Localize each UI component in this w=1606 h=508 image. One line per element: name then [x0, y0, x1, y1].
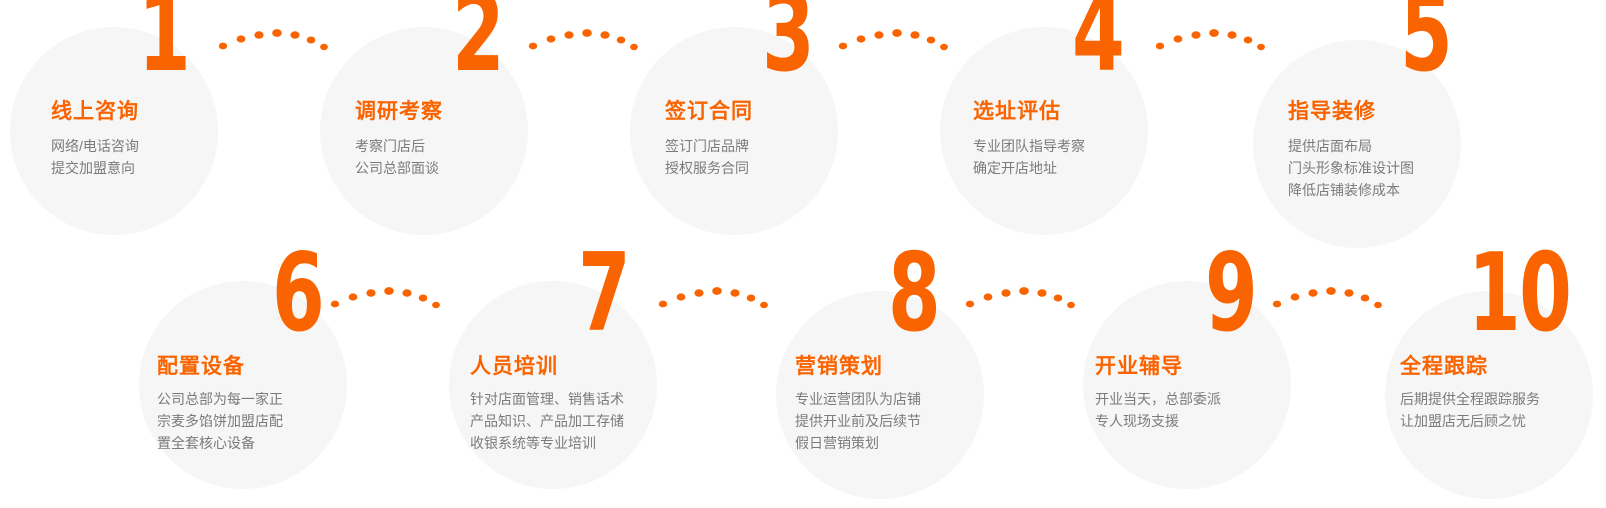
- desc-line: 产品知识、产品加工存储: [470, 410, 624, 432]
- connector-dot: [547, 35, 556, 42]
- step-title: 指导装修: [1288, 95, 1376, 125]
- desc-line: 公司总部为每一家正: [157, 388, 283, 410]
- connector-dot: [349, 293, 358, 300]
- connector-dot: [984, 293, 993, 300]
- connector-dot: [874, 31, 883, 39]
- step-title: 全程跟踪: [1400, 350, 1488, 380]
- connector-dot: [694, 289, 703, 297]
- connector-dot: [331, 301, 339, 308]
- connector-dot: [760, 302, 768, 308]
- step-description: 专业运营团队为店铺 提供开业前及后续节 假日营销策划: [795, 388, 921, 454]
- desc-line: 网络/电话咨询: [51, 135, 139, 157]
- step-description: 考察门店后 公司总部面谈: [355, 135, 439, 179]
- step-number: 10: [1468, 246, 1570, 341]
- step-description: 后期提供全程跟踪服务 让加盟店无后顾之忧: [1400, 388, 1540, 432]
- connector-arc-1-2: [218, 20, 328, 56]
- connector-arc-8-9: [965, 278, 1075, 314]
- connector-dot: [966, 301, 974, 308]
- step-title: 调研考察: [355, 95, 443, 125]
- step-number: 6: [272, 246, 323, 341]
- connector-dot: [630, 44, 638, 50]
- step-number: 5: [1400, 0, 1451, 81]
- connector-dot: [1054, 295, 1063, 302]
- connector-dot: [677, 293, 686, 300]
- connector-dot: [1326, 287, 1336, 295]
- step-description: 网络/电话咨询 提交加盟意向: [51, 135, 139, 179]
- connector-dot: [419, 295, 428, 302]
- connector-arc-7-8: [658, 278, 768, 314]
- connector-dot: [290, 31, 299, 39]
- desc-line: 提交加盟意向: [51, 157, 139, 179]
- desc-line: 专人现场支援: [1095, 410, 1221, 432]
- desc-line: 专业团队指导考察: [973, 135, 1085, 157]
- connector-arc-6-7: [330, 278, 440, 314]
- connector-dot: [366, 289, 375, 297]
- desc-line: 假日营销策划: [795, 432, 921, 454]
- connector-dot: [582, 29, 592, 37]
- connector-dot: [1361, 295, 1370, 302]
- step-title: 配置设备: [157, 350, 245, 380]
- desc-line: 签订门店品牌: [665, 135, 749, 157]
- connector-dot: [617, 37, 626, 44]
- connector-dot: [892, 29, 902, 37]
- connector-dot: [910, 31, 919, 39]
- desc-line: 置全套核心设备: [157, 432, 283, 454]
- connector-arc-3-4: [838, 20, 948, 56]
- connector-dot: [659, 301, 667, 308]
- connector-dot: [857, 35, 866, 42]
- connector-dot: [1257, 44, 1265, 50]
- connector-dot: [307, 37, 316, 44]
- step-number: 3: [762, 0, 813, 81]
- step-description: 专业团队指导考察 确定开店地址: [973, 135, 1085, 179]
- connector-dot: [747, 295, 756, 302]
- connector-dot: [1344, 289, 1353, 297]
- connector-dot: [254, 31, 263, 39]
- connector-dot: [272, 29, 282, 37]
- step-number: 4: [1072, 0, 1123, 81]
- connector-arc-4-5: [1155, 20, 1265, 56]
- connector-arc-2-3: [528, 20, 638, 56]
- step-title: 开业辅导: [1095, 350, 1183, 380]
- connector-dot: [1273, 301, 1281, 308]
- desc-line: 开业当天，总部委派: [1095, 388, 1221, 410]
- desc-line: 提供店面布局: [1288, 135, 1414, 157]
- connector-dot: [564, 31, 573, 39]
- connector-dot: [320, 44, 328, 50]
- desc-line: 门头形象标准设计图: [1288, 157, 1414, 179]
- step-description: 公司总部为每一家正 宗麦多馅饼加盟店配 置全套核心设备: [157, 388, 283, 454]
- connector-dot: [1308, 289, 1317, 297]
- step-number: 8: [888, 246, 939, 341]
- franchise-process-flow: 1 线上咨询 网络/电话咨询 提交加盟意向 2 调研考察 考察门店后 公司总部面…: [0, 0, 1606, 508]
- desc-line: 收银系统等专业培训: [470, 432, 624, 454]
- step-title: 人员培训: [470, 350, 558, 380]
- step-title: 营销策划: [795, 350, 883, 380]
- connector-dot: [1227, 31, 1236, 39]
- step-number: 7: [578, 246, 629, 341]
- connector-dot: [384, 287, 394, 295]
- desc-line: 提供开业前及后续节: [795, 410, 921, 432]
- desc-line: 考察门店后: [355, 135, 439, 157]
- connector-dot: [1037, 289, 1046, 297]
- desc-line: 针对店面管理、销售话术: [470, 388, 624, 410]
- connector-dot: [940, 44, 948, 50]
- step-number: 9: [1205, 246, 1256, 341]
- connector-dot: [600, 31, 609, 39]
- step-title: 选址评估: [973, 95, 1061, 125]
- connector-dot: [1209, 29, 1219, 37]
- desc-line: 降低店铺装修成本: [1288, 179, 1414, 201]
- step-number: 1: [138, 0, 189, 81]
- connector-dot: [839, 43, 847, 50]
- desc-line: 后期提供全程跟踪服务: [1400, 388, 1540, 410]
- connector-dot: [1374, 302, 1382, 308]
- desc-line: 让加盟店无后顾之忧: [1400, 410, 1540, 432]
- step-description: 开业当天，总部委派 专人现场支援: [1095, 388, 1221, 432]
- step-bubble: [1083, 281, 1291, 489]
- desc-line: 宗麦多馅饼加盟店配: [157, 410, 283, 432]
- connector-dot: [1174, 35, 1183, 42]
- desc-line: 公司总部面谈: [355, 157, 439, 179]
- step-number: 2: [452, 0, 503, 81]
- connector-dot: [1191, 31, 1200, 39]
- connector-dot: [730, 289, 739, 297]
- connector-dot: [529, 43, 537, 50]
- connector-arc-9-10: [1272, 278, 1382, 314]
- connector-dot: [1019, 287, 1029, 295]
- connector-dot: [237, 35, 246, 42]
- connector-dot: [219, 43, 227, 50]
- connector-dot: [712, 287, 722, 295]
- connector-dot: [1001, 289, 1010, 297]
- connector-dot: [1067, 302, 1075, 308]
- step-title: 签订合同: [665, 95, 753, 125]
- desc-line: 授权服务合同: [665, 157, 749, 179]
- connector-dot: [1156, 43, 1164, 50]
- connector-dot: [1244, 37, 1253, 44]
- connector-dot: [1291, 293, 1300, 300]
- connector-dot: [402, 289, 411, 297]
- step-title: 线上咨询: [51, 95, 139, 125]
- connector-dot: [927, 37, 936, 44]
- desc-line: 确定开店地址: [973, 157, 1085, 179]
- connector-dot: [432, 302, 440, 308]
- step-description: 签订门店品牌 授权服务合同: [665, 135, 749, 179]
- step-description: 提供店面布局 门头形象标准设计图 降低店铺装修成本: [1288, 135, 1414, 201]
- step-description: 针对店面管理、销售话术 产品知识、产品加工存储 收银系统等专业培训: [470, 388, 624, 454]
- desc-line: 专业运营团队为店铺: [795, 388, 921, 410]
